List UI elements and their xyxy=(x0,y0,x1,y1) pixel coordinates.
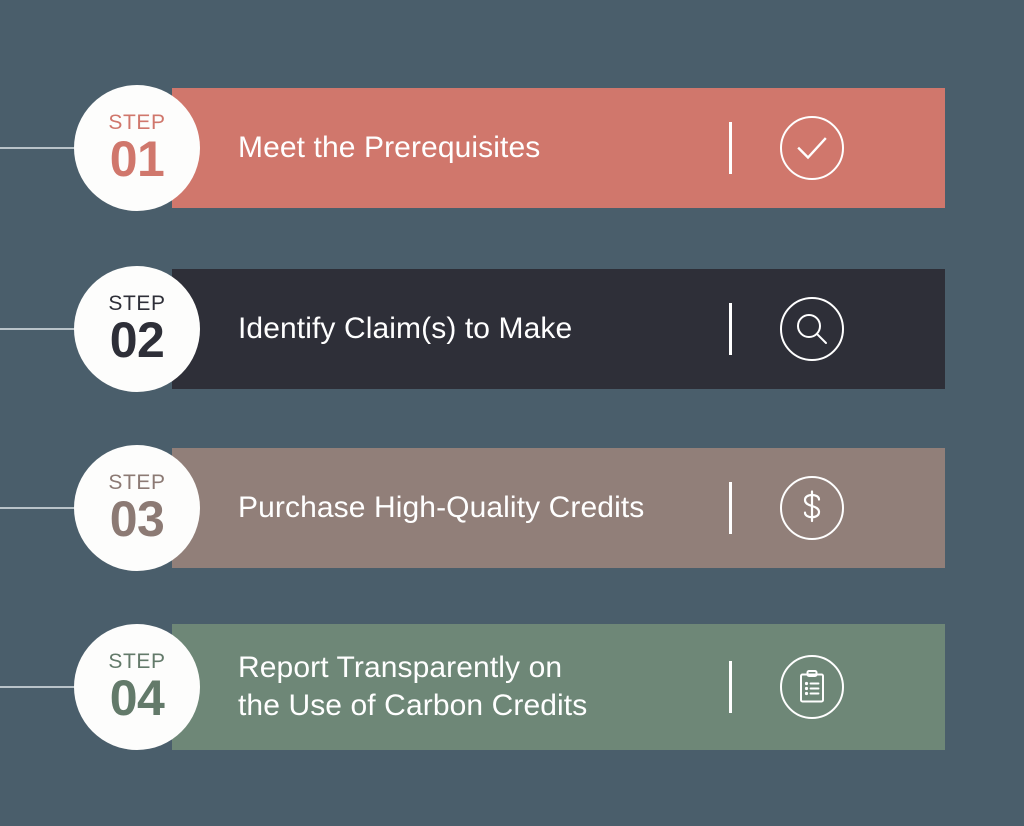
divider-03 xyxy=(729,482,732,534)
step-bar-02[interactable]: Identify Claim(s) to Make xyxy=(172,269,945,389)
step-word-02: STEP xyxy=(108,293,165,314)
step-label-02: Identify Claim(s) to Make xyxy=(238,310,572,348)
step-row-01: Meet the Prerequisites STEP 01 xyxy=(0,85,1024,211)
step-bar-03[interactable]: Purchase High-Quality Credits xyxy=(172,448,945,568)
step-number-04: 04 xyxy=(110,673,165,723)
step-number-01: 01 xyxy=(110,134,165,184)
dollar-icon xyxy=(778,474,846,542)
step-row-03: Purchase High-Quality Credits STEP 03 xyxy=(0,445,1024,571)
step-bar-01[interactable]: Meet the Prerequisites xyxy=(172,88,945,208)
steps-infographic: Meet the Prerequisites STEP 01 Identify … xyxy=(0,0,1024,826)
step-number-02: 02 xyxy=(110,315,165,365)
check-circle-icon xyxy=(778,114,846,182)
step-badge-02[interactable]: STEP 02 xyxy=(74,266,200,392)
magnifier-icon xyxy=(778,295,846,363)
step-badge-03[interactable]: STEP 03 xyxy=(74,445,200,571)
step-word-04: STEP xyxy=(108,651,165,672)
divider-04 xyxy=(729,661,732,713)
step-label-04: Report Transparently on the Use of Carbo… xyxy=(238,649,587,726)
step-row-04: Report Transparently on the Use of Carbo… xyxy=(0,624,1024,750)
divider-02 xyxy=(729,303,732,355)
step-word-03: STEP xyxy=(108,472,165,493)
step-number-03: 03 xyxy=(110,494,165,544)
divider-01 xyxy=(729,122,732,174)
step-badge-04[interactable]: STEP 04 xyxy=(74,624,200,750)
step-label-01: Meet the Prerequisites xyxy=(238,129,540,167)
step-bar-04[interactable]: Report Transparently on the Use of Carbo… xyxy=(172,624,945,750)
step-word-01: STEP xyxy=(108,112,165,133)
clipboard-list-icon xyxy=(778,653,846,721)
step-badge-01[interactable]: STEP 01 xyxy=(74,85,200,211)
step-row-02: Identify Claim(s) to Make STEP 02 xyxy=(0,266,1024,392)
step-label-03: Purchase High-Quality Credits xyxy=(238,489,644,527)
